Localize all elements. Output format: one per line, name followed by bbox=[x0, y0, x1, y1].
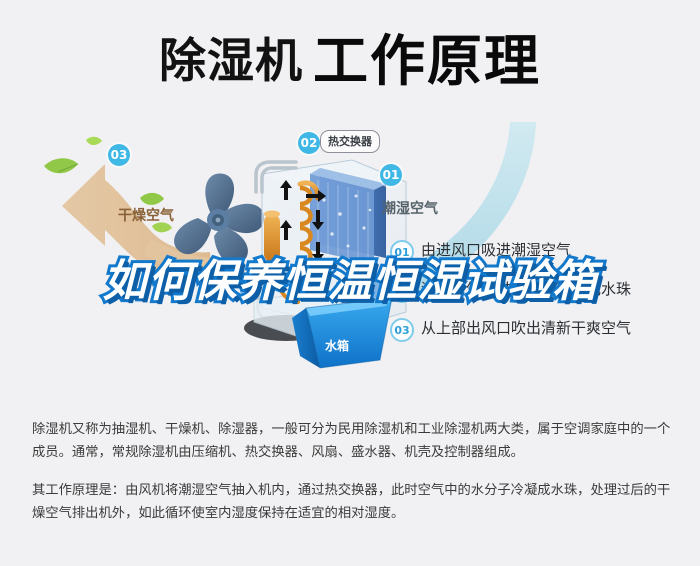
evaporator-coil bbox=[310, 168, 386, 264]
infographic-page: 除湿机 工作原理 bbox=[0, 0, 700, 566]
fan-icon bbox=[174, 173, 264, 264]
step-badge-03: 03 bbox=[390, 318, 414, 342]
label-humid-air: 潮湿空气 bbox=[382, 198, 438, 218]
callout-heat-exchanger: 热交换器 bbox=[320, 130, 380, 153]
badge-step-01-diagram: 01 bbox=[380, 164, 402, 186]
water-tank bbox=[292, 298, 392, 368]
compressor bbox=[264, 211, 280, 263]
body-copy: 除湿机又称为抽湿机、干燥机、除湿器，一般可分为民用除湿机和工业除湿机两大类，属于… bbox=[0, 397, 700, 566]
badge-step-03-diagram: 03 bbox=[108, 144, 130, 166]
badge-step-02-diagram: 02 bbox=[298, 132, 320, 154]
label-dry-air: 干燥空气 bbox=[118, 205, 174, 225]
title-part-2: 工作原理 bbox=[313, 34, 541, 89]
page-title: 除湿机 工作原理 bbox=[0, 0, 700, 122]
paragraph-2: 其工作原理是：由风机将潮湿空气抽入机内，通过热交换器，此时空气中的水分子冷凝成水… bbox=[32, 479, 672, 525]
step-text-03: 从上部出风口吹出清新干爽空气 bbox=[421, 318, 631, 339]
paragraph-1: 除湿机又称为抽湿机、干燥机、除湿器，一般可分为民用除湿机和工业除湿机两大类，属于… bbox=[32, 418, 672, 464]
list-item: 03 从上部出风口吹出清新干爽空气 bbox=[390, 318, 690, 340]
title-part-1: 除湿机 bbox=[159, 38, 303, 85]
overlay-headline: 如何保养恒温恒湿试验箱 bbox=[0, 256, 700, 308]
label-water-tank: 水箱 bbox=[325, 337, 349, 354]
